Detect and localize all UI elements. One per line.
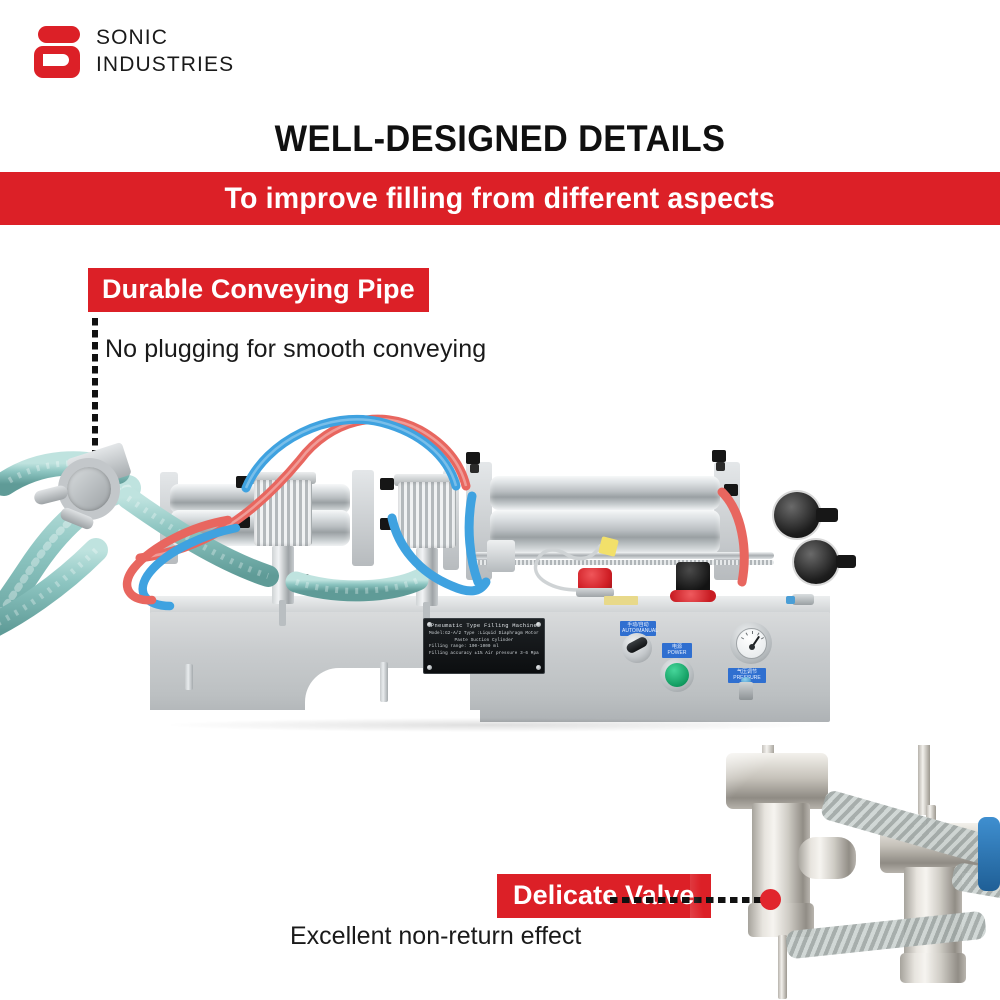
power-button[interactable] bbox=[660, 658, 694, 692]
callout-description-1: No plugging for smooth conveying bbox=[105, 335, 486, 364]
brand-name-line1: SONIC bbox=[96, 25, 234, 52]
nameplate-row-4: Filling accuracy ±1% Air pressure 3-6 Mp… bbox=[429, 651, 539, 658]
mode-selector-label-cn: 手动/自动 bbox=[627, 622, 648, 628]
nameplate-row-2: Paste Suction Cylinder bbox=[429, 638, 539, 645]
pressure-gauge bbox=[730, 622, 772, 664]
page-title: WELL-DESIGNED DETAILS bbox=[35, 118, 965, 160]
leader-line-2 bbox=[610, 897, 768, 903]
side-bolt-blue-cap bbox=[786, 596, 795, 604]
nameplate-title: Pneumatic Type Filling Machine bbox=[429, 623, 539, 629]
callout-durable-conveying-pipe: Durable Conveying Pipe bbox=[88, 268, 429, 312]
subtitle-banner: To improve filling from different aspect… bbox=[0, 172, 1000, 225]
valve-collar-right bbox=[900, 953, 966, 983]
poster-canvas: SONIC INDUSTRIES WELL-DESIGNED DETAILS T… bbox=[0, 0, 1000, 1000]
valve-closeup-photo bbox=[690, 745, 1000, 1000]
machine-nameplate: Pneumatic Type Filling Machine Model:G2-… bbox=[423, 618, 545, 674]
brand-wordmark: SONIC INDUSTRIES bbox=[96, 25, 234, 79]
nameplate-row-3: Filling range: 100-1000 ml bbox=[429, 644, 539, 651]
brand-logo: SONIC INDUSTRIES bbox=[34, 24, 234, 80]
brand-name-line2: INDUSTRIES bbox=[96, 52, 234, 79]
support-leg-1 bbox=[185, 664, 193, 690]
yellow-sticker bbox=[604, 596, 638, 605]
side-bolt bbox=[792, 594, 814, 605]
leader-marker-dot-2 bbox=[760, 889, 781, 910]
drain-valve[interactable] bbox=[739, 682, 753, 700]
air-tube-blue-right-inner bbox=[469, 496, 478, 582]
power-button-inner bbox=[665, 663, 689, 687]
valve-flange-left bbox=[726, 753, 828, 809]
nameplate-row-1: Model:G2-A/2 Type :Liquid Diaphragm Moto… bbox=[429, 631, 539, 638]
power-button-label: 电源 POWER bbox=[662, 643, 692, 658]
power-button-label-en: POWER bbox=[668, 650, 687, 656]
hose-assembly bbox=[0, 400, 900, 740]
power-button-label-cn: 电源 bbox=[672, 644, 682, 650]
subtitle-text: To improve filling from different aspect… bbox=[225, 182, 775, 216]
inset-blue-tube bbox=[978, 817, 1000, 891]
callout-badge-label: Durable Conveying Pipe bbox=[88, 268, 429, 312]
pressure-gauge-face bbox=[736, 628, 767, 659]
valve-side-port-left bbox=[798, 837, 856, 879]
support-leg-2 bbox=[380, 662, 388, 702]
pressure-gauge-label-cn: 气压调节 bbox=[737, 669, 757, 675]
sonic-wave-mark-icon bbox=[34, 24, 80, 80]
machine-shadow bbox=[170, 718, 810, 732]
filling-machine-illustration: Pneumatic Type Filling Machine Model:G2-… bbox=[0, 400, 900, 740]
air-tube-red-right bbox=[722, 492, 744, 582]
callout-description-2: Excellent non-return effect bbox=[290, 922, 581, 951]
emergency-stop-button[interactable] bbox=[578, 568, 612, 590]
deck-knob-red-ring bbox=[670, 590, 716, 602]
